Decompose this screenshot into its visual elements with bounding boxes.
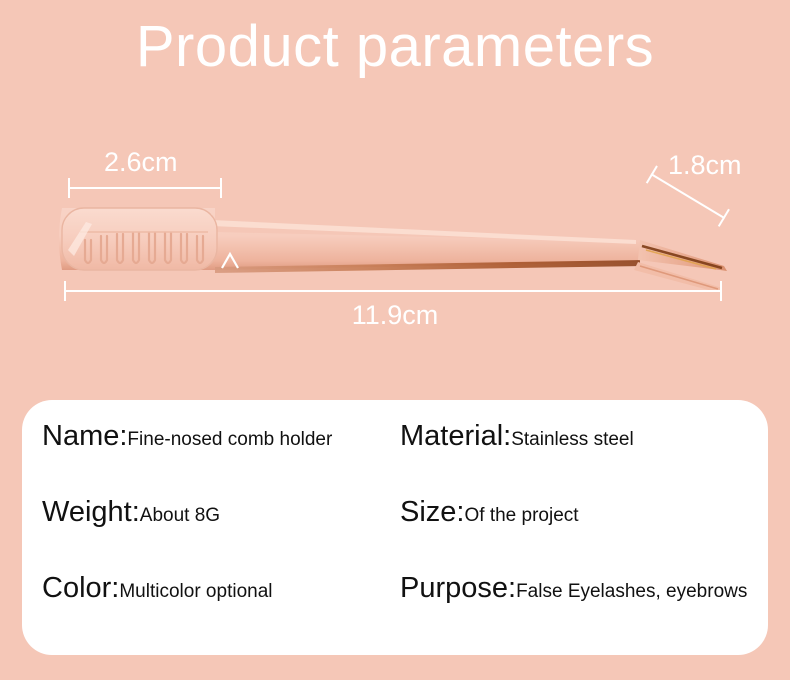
spec-row-weight: Weight: About 8G	[42, 496, 220, 529]
dimension-label-tip: 1.8cm	[668, 150, 742, 181]
spec-key-color: Color:	[42, 572, 119, 605]
spec-value-material: Stainless steel	[511, 429, 634, 451]
spec-row-size: Size: Of the project	[400, 496, 579, 529]
spec-key-weight: Weight:	[42, 496, 140, 529]
page-title: Product parameters	[0, 14, 790, 81]
spec-row-color: Color: Multicolor optional	[42, 572, 273, 605]
spec-value-color: Multicolor optional	[119, 581, 272, 603]
dimension-label-width: 2.6cm	[104, 147, 178, 178]
dimension-line-width	[68, 187, 222, 189]
spec-row-purpose: Purpose: False Eyelashes, eyebrows	[400, 572, 747, 605]
product-parameters-page: Product parameters	[0, 0, 790, 680]
spec-key-purpose: Purpose:	[400, 572, 516, 605]
spec-card: Name: Fine-nosed comb holder Weight: Abo…	[22, 400, 768, 655]
dimension-line-length	[64, 290, 722, 292]
spec-value-name: Fine-nosed comb holder	[127, 429, 332, 451]
spec-row-material: Material: Stainless steel	[400, 420, 634, 453]
product-figure: 2.6cm 1.8cm 11.9cm	[0, 110, 790, 360]
spec-value-purpose: False Eyelashes, eyebrows	[516, 581, 747, 603]
spec-key-material: Material:	[400, 420, 511, 453]
spec-row-name: Name: Fine-nosed comb holder	[42, 420, 332, 453]
spec-key-name: Name:	[42, 420, 127, 453]
spec-value-size: Of the project	[464, 505, 578, 527]
spec-value-weight: About 8G	[140, 505, 220, 527]
dimension-label-length: 11.9cm	[0, 300, 790, 331]
spec-key-size: Size:	[400, 496, 464, 529]
